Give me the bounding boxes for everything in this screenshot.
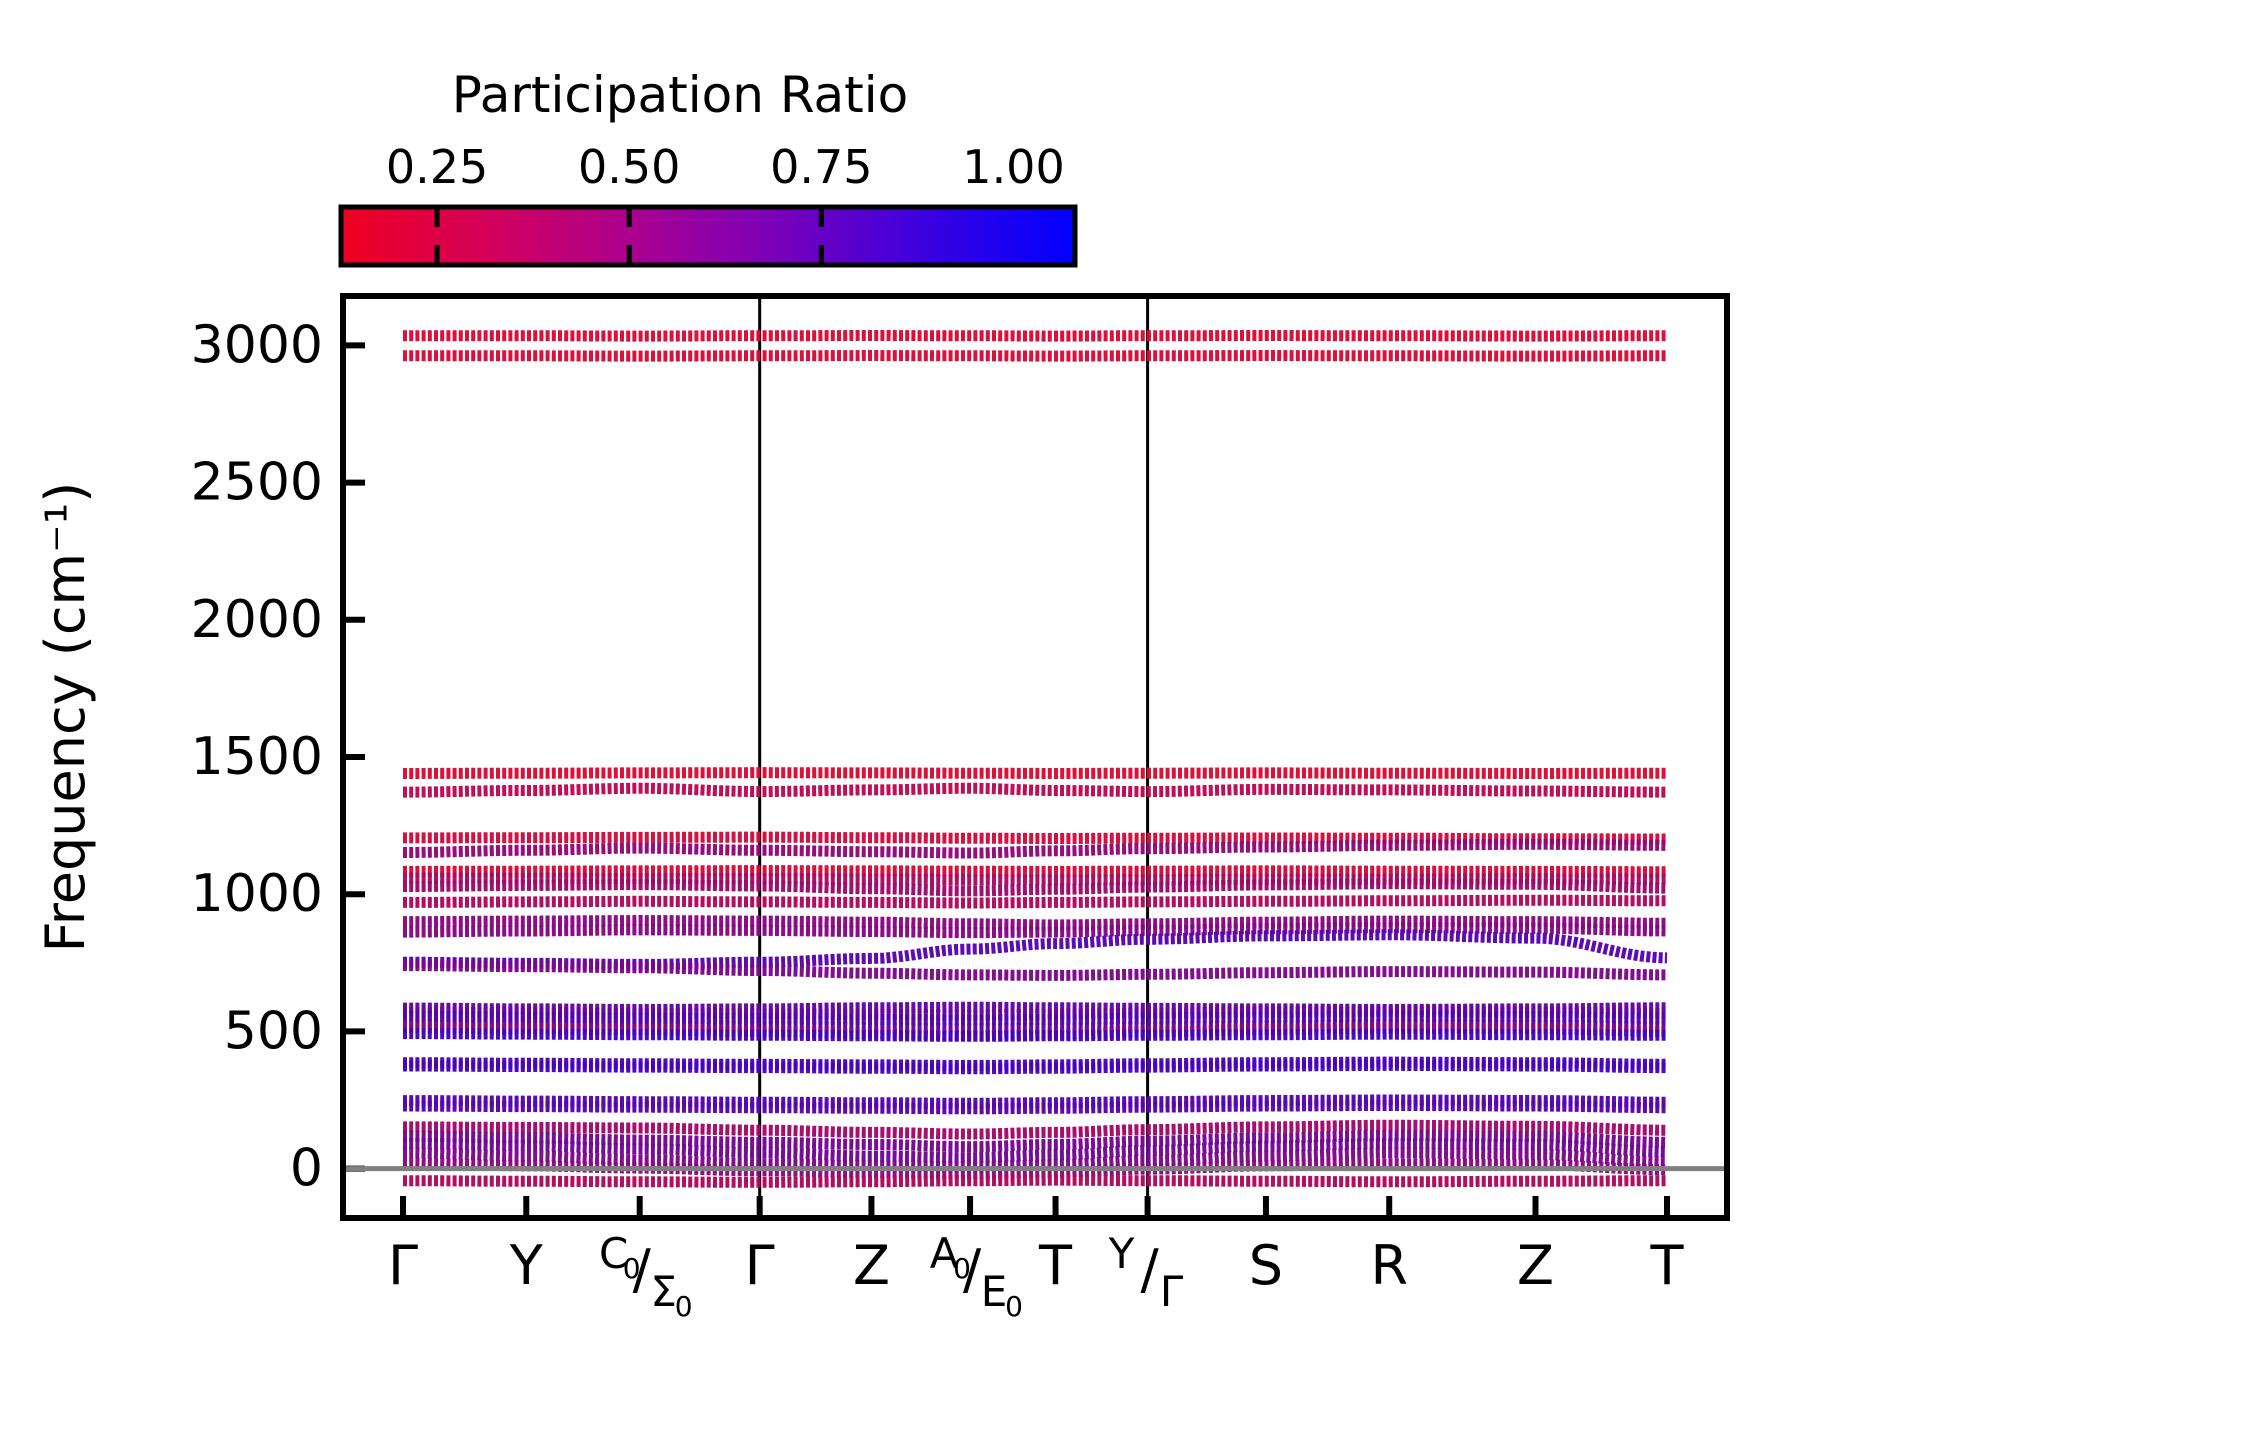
xtick-label-densub-5: 0 <box>1005 1290 1023 1323</box>
dos-curves[interactable]: TotalHCSO <box>1751 296 2236 1218</box>
xtick-label-1: Y <box>509 1234 544 1297</box>
xtick-label-9: R <box>1370 1234 1408 1297</box>
dos-xtick-label-2: 2 <box>2114 1234 2148 1297</box>
band-panel-ylabel-text: Frequency (cm⁻¹) <box>34 482 97 953</box>
dos-xtick-label-0: 0 <box>1734 1234 1768 1297</box>
legend-label-o: O <box>2059 1143 2098 1201</box>
dos-curve-h <box>1752 296 2207 1218</box>
xtick-label-3: Γ <box>745 1234 775 1297</box>
ytick-label-3000: 3000 <box>191 315 323 375</box>
xtick-label-7[interactable]: Y/Γ <box>1108 1229 1184 1316</box>
xtick-label-5[interactable]: A0/E0 <box>930 1229 1023 1323</box>
legend-label-c: C <box>2059 1011 2094 1069</box>
dos-panel-xaxis[interactable]: 02DOS (a.u.)TotalHCSO <box>1734 296 2236 1381</box>
colorbar-tick-label-1: 0.50 <box>578 140 680 194</box>
phonon-band-dos-figure: 0.250.500.751.00Participation Ratio30002… <box>0 0 2259 1455</box>
xtick-label-densub-2: 0 <box>675 1290 693 1323</box>
ytick-label-500: 500 <box>224 1001 323 1061</box>
dos-panel-border <box>1751 296 2236 1218</box>
colorbar-tick-label-0: 0.25 <box>386 140 488 194</box>
xtick-label-slash-2: / <box>633 1238 652 1301</box>
dos-panel-xlabel-text: DOS (a.u.) <box>1824 1318 2103 1381</box>
ytick-label-1000: 1000 <box>191 864 323 924</box>
xtick-label-2[interactable]: C0/Σ0 <box>599 1229 693 1323</box>
band-panel[interactable]: 300025002000150010005000Frequency (cm⁻¹)… <box>34 296 2236 1381</box>
colorbar-tick-label-2: 0.75 <box>770 140 872 194</box>
legend-label-h: H <box>2059 945 2097 1003</box>
ytick-label-0: 0 <box>290 1139 323 1199</box>
xtick-label-den-2: Σ <box>650 1267 677 1316</box>
xtick-label-slash-5: / <box>963 1238 982 1301</box>
xtick-label-6: T <box>1038 1234 1073 1297</box>
legend-frame[interactable] <box>1993 866 2231 1210</box>
colorbar[interactable]: 0.250.500.751.00Participation Ratio30002… <box>34 66 2236 1381</box>
xtick-label-den-5: E <box>981 1267 1008 1316</box>
dos-curve-c <box>1752 296 1805 1218</box>
xtick-label-11: T <box>1650 1234 1685 1297</box>
ytick-label-1500: 1500 <box>191 727 323 787</box>
xtick-label-den-7: Γ <box>1160 1267 1184 1316</box>
legend-label-total: Total <box>2058 879 2176 937</box>
ytick-label-2000: 2000 <box>191 590 323 650</box>
dos-legend[interactable]: TotalHCSO <box>1993 866 2231 1210</box>
xtick-label-0: Γ <box>388 1234 418 1297</box>
dos-panel-frame <box>1751 296 2236 1218</box>
xtick-label-8: S <box>1249 1234 1283 1297</box>
xtick-label-num-7: Y <box>1108 1229 1135 1278</box>
figure-canvas: 0.250.500.751.00Participation Ratio30002… <box>0 0 2259 1455</box>
dos-panel-frame-top[interactable]: TotalHCSO <box>1751 296 2236 1218</box>
dos-curve-s <box>1752 296 1763 1218</box>
ytick-label-2500: 2500 <box>191 453 323 513</box>
colorbar-gradient[interactable] <box>341 207 1075 265</box>
xtick-label-10: Z <box>1517 1234 1554 1297</box>
legend-label-s: S <box>2059 1077 2091 1135</box>
band-panel-frame <box>343 296 1727 1218</box>
xtick-label-slash-7: / <box>1140 1238 1159 1301</box>
colorbar-tick-label-3: 1.00 <box>962 140 1064 194</box>
dos-curve-total <box>1752 296 2234 1218</box>
xtick-label-4: Z <box>853 1234 890 1297</box>
colorbar-title: Participation Ratio <box>452 66 908 124</box>
dos-curve-o <box>1752 296 1771 1218</box>
dos-panel[interactable]: 02DOS (a.u.)TotalHCSO <box>1734 296 2236 1381</box>
